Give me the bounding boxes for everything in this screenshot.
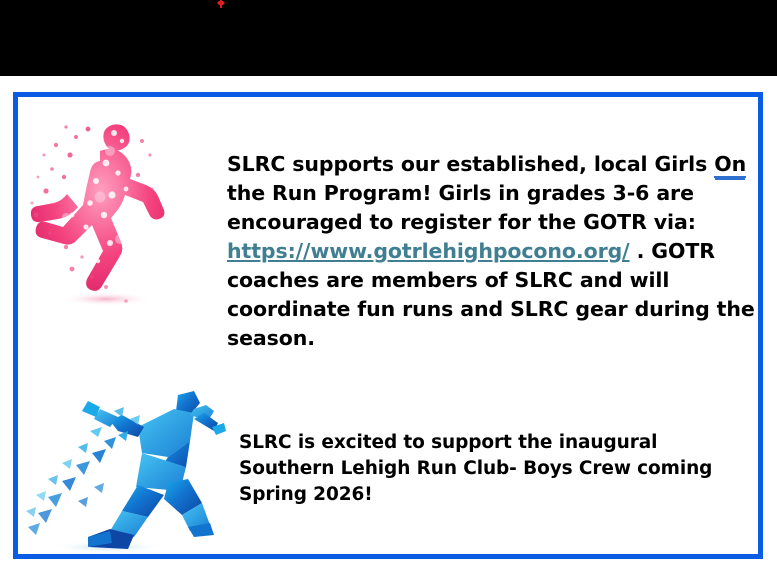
red-marker-horizontal xyxy=(217,1,225,5)
red-cross-marker-icon xyxy=(217,0,225,8)
gotr-text-part-b: the Run Program! Girls in grades 3-6 are… xyxy=(227,181,696,234)
flyer-card: SLRC supports our established, local Gir… xyxy=(13,92,763,559)
gotr-text-part-a: SLRC supports our established, local Gir… xyxy=(227,152,714,176)
gotr-paragraph: SLRC supports our established, local Gir… xyxy=(227,150,757,353)
gotr-on-underlined: On xyxy=(714,152,746,178)
blue-sprinter-body xyxy=(82,391,226,549)
boys-crew-paragraph: SLRC is excited to support the inaugural… xyxy=(239,430,739,508)
gotr-registration-link[interactable]: https://www.gotrlehighpocono.org/ xyxy=(227,239,630,263)
gotr-block: SLRC supports our established, local Gir… xyxy=(18,97,758,312)
pink-runner-silhouette xyxy=(26,111,176,311)
top-black-band xyxy=(0,0,777,76)
blue-polygon-male-sprinter-image xyxy=(18,375,233,554)
runner-shadow xyxy=(60,292,152,306)
boys-crew-block: SLRC is excited to support the inaugural… xyxy=(18,375,758,554)
pink-particle-female-runner-image xyxy=(26,111,176,311)
flyer-card-inner: SLRC supports our established, local Gir… xyxy=(18,97,758,554)
